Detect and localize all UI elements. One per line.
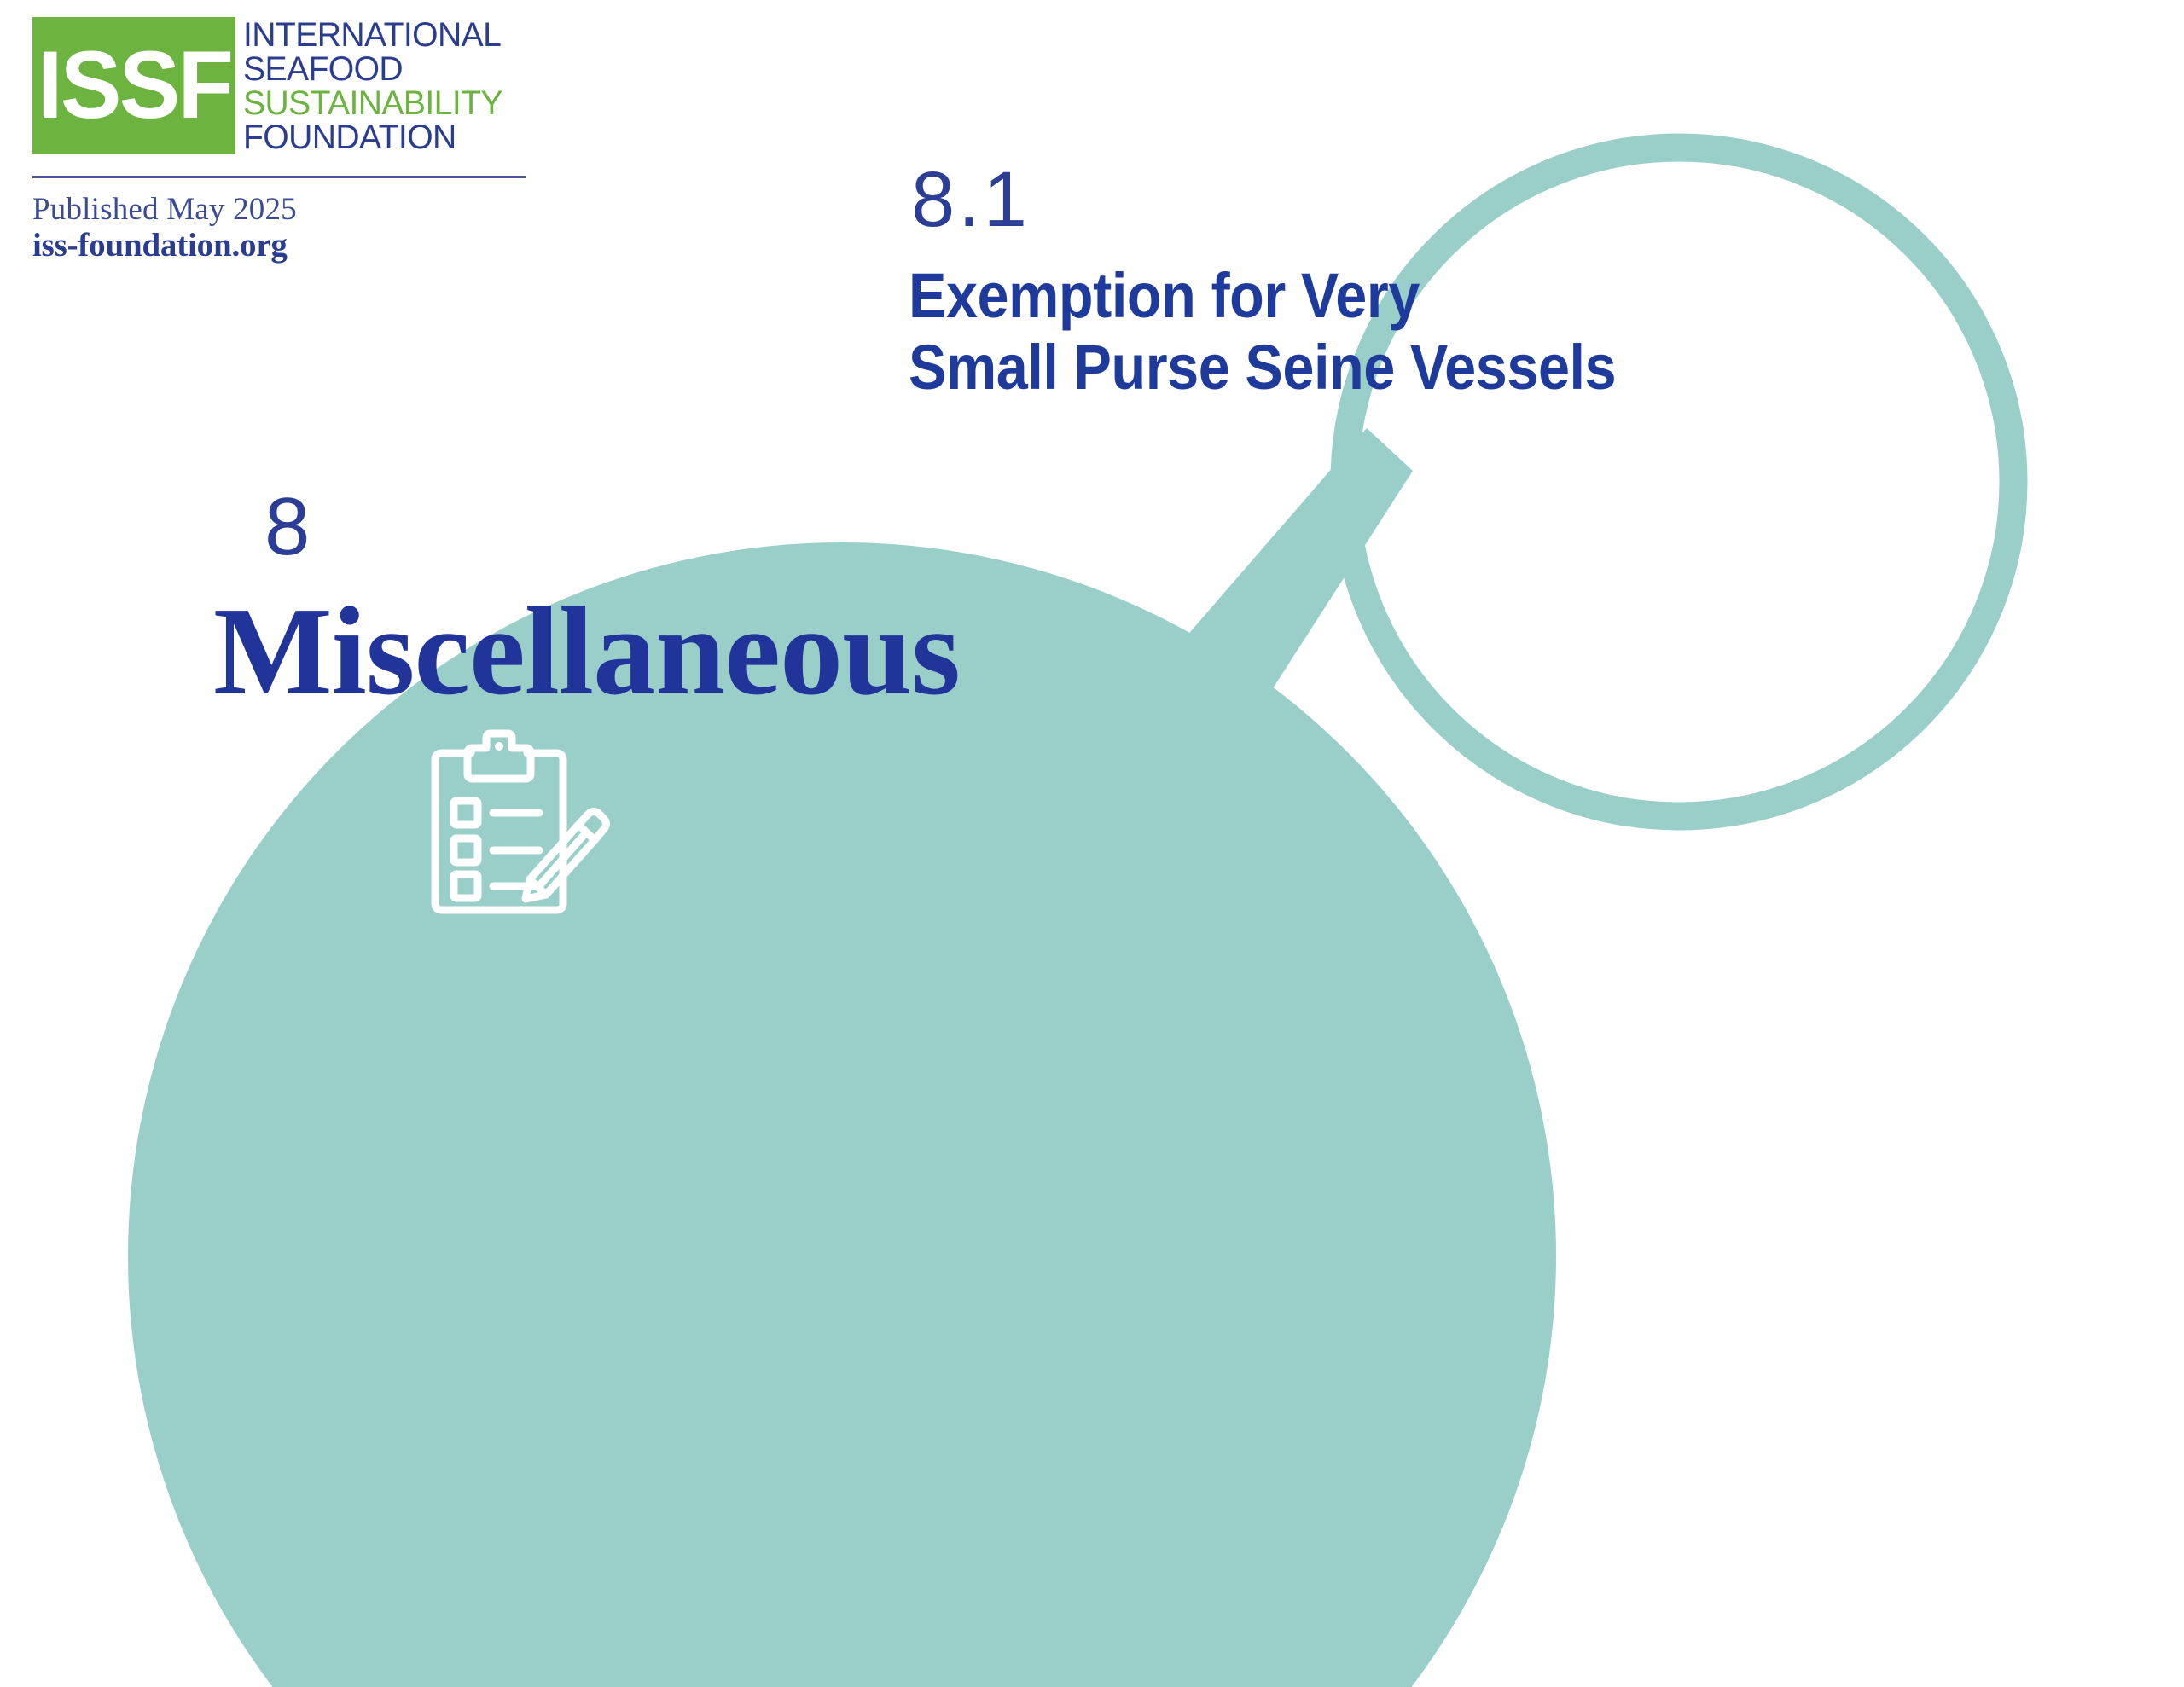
logo-word-seafood: SEAFOOD [243,52,502,86]
logo-divider [32,176,526,178]
callout-title: Exemption for Very Small Purse Seine Ves… [909,260,1616,403]
clipboard-checklist-pencil-icon [418,729,623,925]
issf-logo-mark: ISSF [32,17,235,154]
poster-canvas: ISSF INTERNATIONAL SEAFOOD SUSTAINABILIT… [0,0,2184,1687]
callout-title-line-2: Small Purse Seine Vessels [909,332,1616,403]
section-number: 8 [264,486,311,568]
issf-logo: ISSF INTERNATIONAL SEAFOOD SUSTAINABILIT… [32,17,578,154]
callout-number: 8.1 [911,160,1031,239]
section-title: Miscellaneous [213,588,960,715]
logo-word-sustainability: SUSTAINABILITY [243,86,502,120]
logo-word-foundation: FOUNDATION [243,120,502,154]
issf-logo-mark-text: ISSF [37,38,230,133]
published-date: Published May 2025 [32,189,297,230]
callout-ring [1330,133,2028,831]
logo-word-international: INTERNATIONAL [243,18,502,52]
website-link[interactable]: iss-foundation.org [32,225,288,266]
issf-logo-wordmark: INTERNATIONAL SEAFOOD SUSTAINABILITY FOU… [243,17,505,154]
callout-title-line-1: Exemption for Very [909,260,1616,332]
